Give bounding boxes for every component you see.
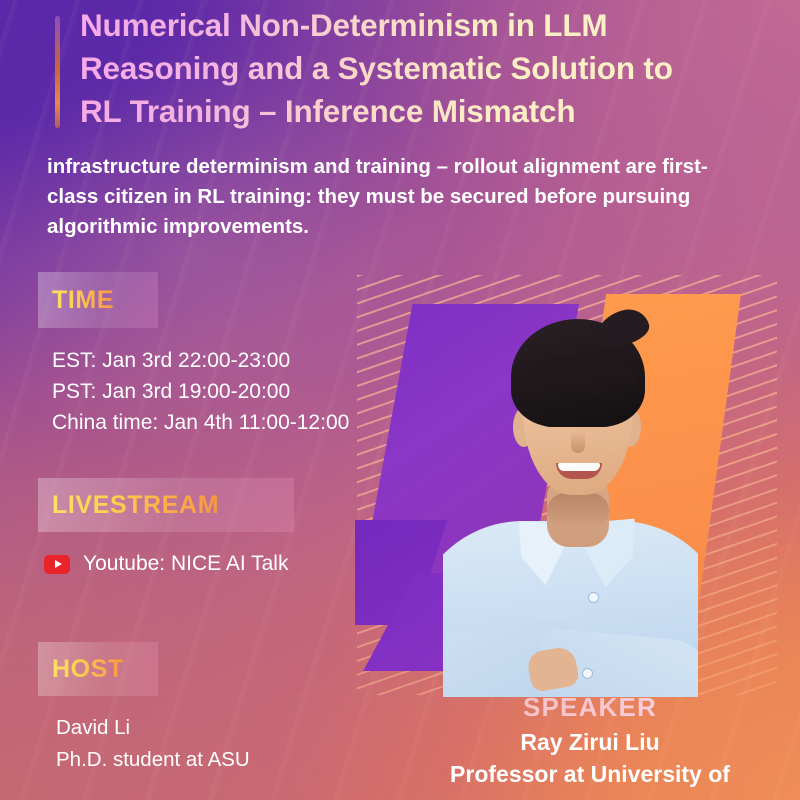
speaker-details: SPEAKER Ray Zirui Liu Professor at Unive… xyxy=(380,692,800,788)
section-label-time: TIME xyxy=(38,272,158,328)
livestream-channel-text: Youtube: NICE AI Talk xyxy=(83,552,288,576)
page-title: Numerical Non-Determinism in LLM Reasoni… xyxy=(80,4,748,133)
time-line-est: EST: Jan 3rd 22:00-23:00 xyxy=(52,345,349,376)
section-label-speaker-text: SPEAKER xyxy=(380,692,800,723)
photo-teeth xyxy=(558,463,600,471)
speaker-name: Ray Zirui Liu xyxy=(380,729,800,756)
host-name: David Li xyxy=(56,712,250,744)
host-details: David Li Ph.D. student at ASU xyxy=(56,712,250,776)
livestream-channel-row[interactable]: Youtube: NICE AI Talk xyxy=(44,552,288,576)
poster-canvas: Numerical Non-Determinism in LLM Reasoni… xyxy=(0,0,800,800)
title-line-1: Numerical Non-Determinism in LLM xyxy=(80,4,748,47)
photo-neck-shadow xyxy=(547,493,609,529)
section-label-livestream-text: LIVESTREAM xyxy=(52,491,219,520)
speaker-photo xyxy=(443,297,698,697)
section-label-livestream: LIVESTREAM xyxy=(38,478,294,532)
title-line-2: Reasoning and a Systematic Solution to xyxy=(80,47,748,90)
photo-hair-tuft xyxy=(592,305,653,351)
title-block: Numerical Non-Determinism in LLM Reasoni… xyxy=(48,4,748,133)
section-label-host: HOST xyxy=(38,642,158,696)
photo-nose xyxy=(571,431,585,453)
youtube-icon xyxy=(44,555,70,574)
section-label-time-text: TIME xyxy=(52,286,114,315)
photo-shirt-button-lower xyxy=(583,669,592,678)
section-label-host-text: HOST xyxy=(52,655,124,684)
title-line-3: RL Training – Inference Mismatch xyxy=(80,90,748,133)
time-line-pst: PST: Jan 3rd 19:00-20:00 xyxy=(52,376,349,407)
host-affiliation: Ph.D. student at ASU xyxy=(56,744,250,776)
time-details: EST: Jan 3rd 22:00-23:00 PST: Jan 3rd 19… xyxy=(52,345,349,438)
subtitle-text: infrastructure determinism and training … xyxy=(47,152,753,242)
speaker-affiliation: Professor at University of xyxy=(380,761,800,788)
photo-shirt-button-upper xyxy=(589,593,598,602)
speaker-photo-mask xyxy=(443,297,698,697)
title-accent-bar xyxy=(55,16,60,128)
time-line-china: China time: Jan 4th 11:00-12:00 xyxy=(52,407,349,438)
